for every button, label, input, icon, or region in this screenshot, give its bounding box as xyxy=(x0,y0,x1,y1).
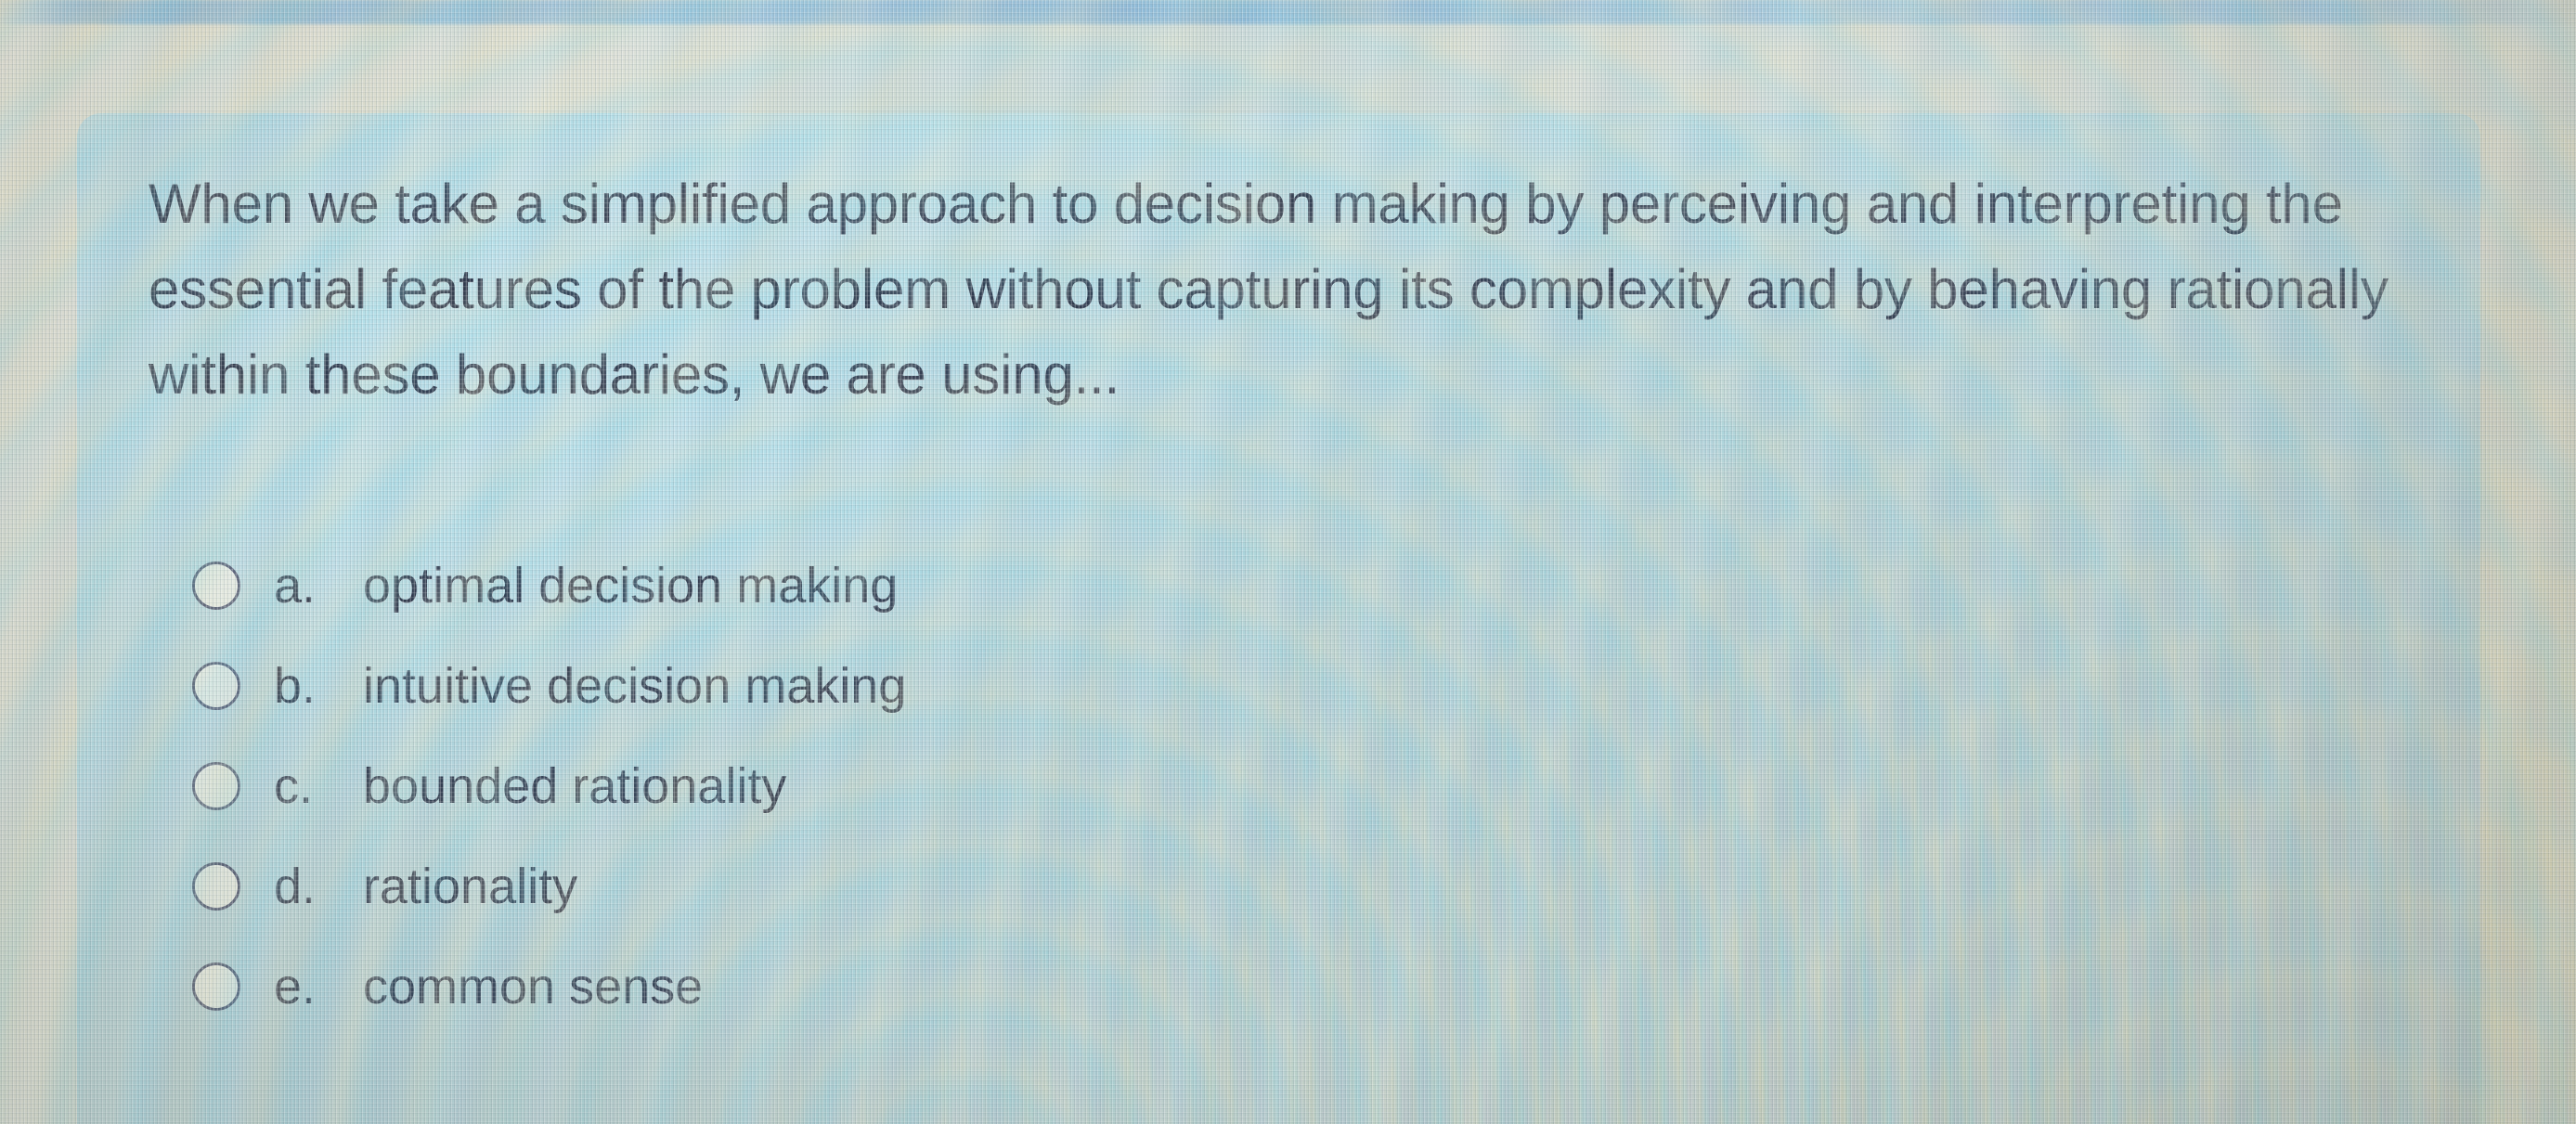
answer-option-a[interactable]: a. optimal decision making xyxy=(192,536,2234,636)
option-letter-c: c. xyxy=(274,757,363,815)
answer-option-d[interactable]: d. rationality xyxy=(192,836,2234,937)
answer-option-e[interactable]: e. common sense xyxy=(192,937,2234,1037)
option-label-c[interactable]: bounded rationality xyxy=(363,757,786,815)
radio-button-icon-e[interactable] xyxy=(192,963,240,1011)
monitor-photo: When we take a simplified approach to de… xyxy=(0,0,2576,1124)
answer-option-b[interactable]: b. intuitive decision making xyxy=(192,636,2234,736)
quiz-question-card: When we take a simplified approach to de… xyxy=(77,113,2480,1124)
radio-button-icon-b[interactable] xyxy=(192,662,240,710)
option-letter-b: b. xyxy=(274,657,363,715)
option-letter-e: e. xyxy=(274,958,363,1015)
option-label-e[interactable]: common sense xyxy=(363,958,703,1015)
option-label-d[interactable]: rationality xyxy=(363,858,577,915)
answer-option-c[interactable]: c. bounded rationality xyxy=(192,736,2234,836)
answer-options-list: a. optimal decision making b. intuitive … xyxy=(192,536,2234,1037)
radio-button-icon-a[interactable] xyxy=(192,562,240,610)
screen-top-glow-band xyxy=(0,0,2576,24)
radio-button-icon-d[interactable] xyxy=(192,862,240,911)
radio-button-icon-c[interactable] xyxy=(192,762,240,810)
question-prompt: When we take a simplified approach to de… xyxy=(149,161,2404,418)
option-label-a[interactable]: optimal decision making xyxy=(363,557,898,614)
option-letter-d: d. xyxy=(274,858,363,915)
option-label-b[interactable]: intuitive decision making xyxy=(363,657,906,715)
option-letter-a: a. xyxy=(274,557,363,614)
